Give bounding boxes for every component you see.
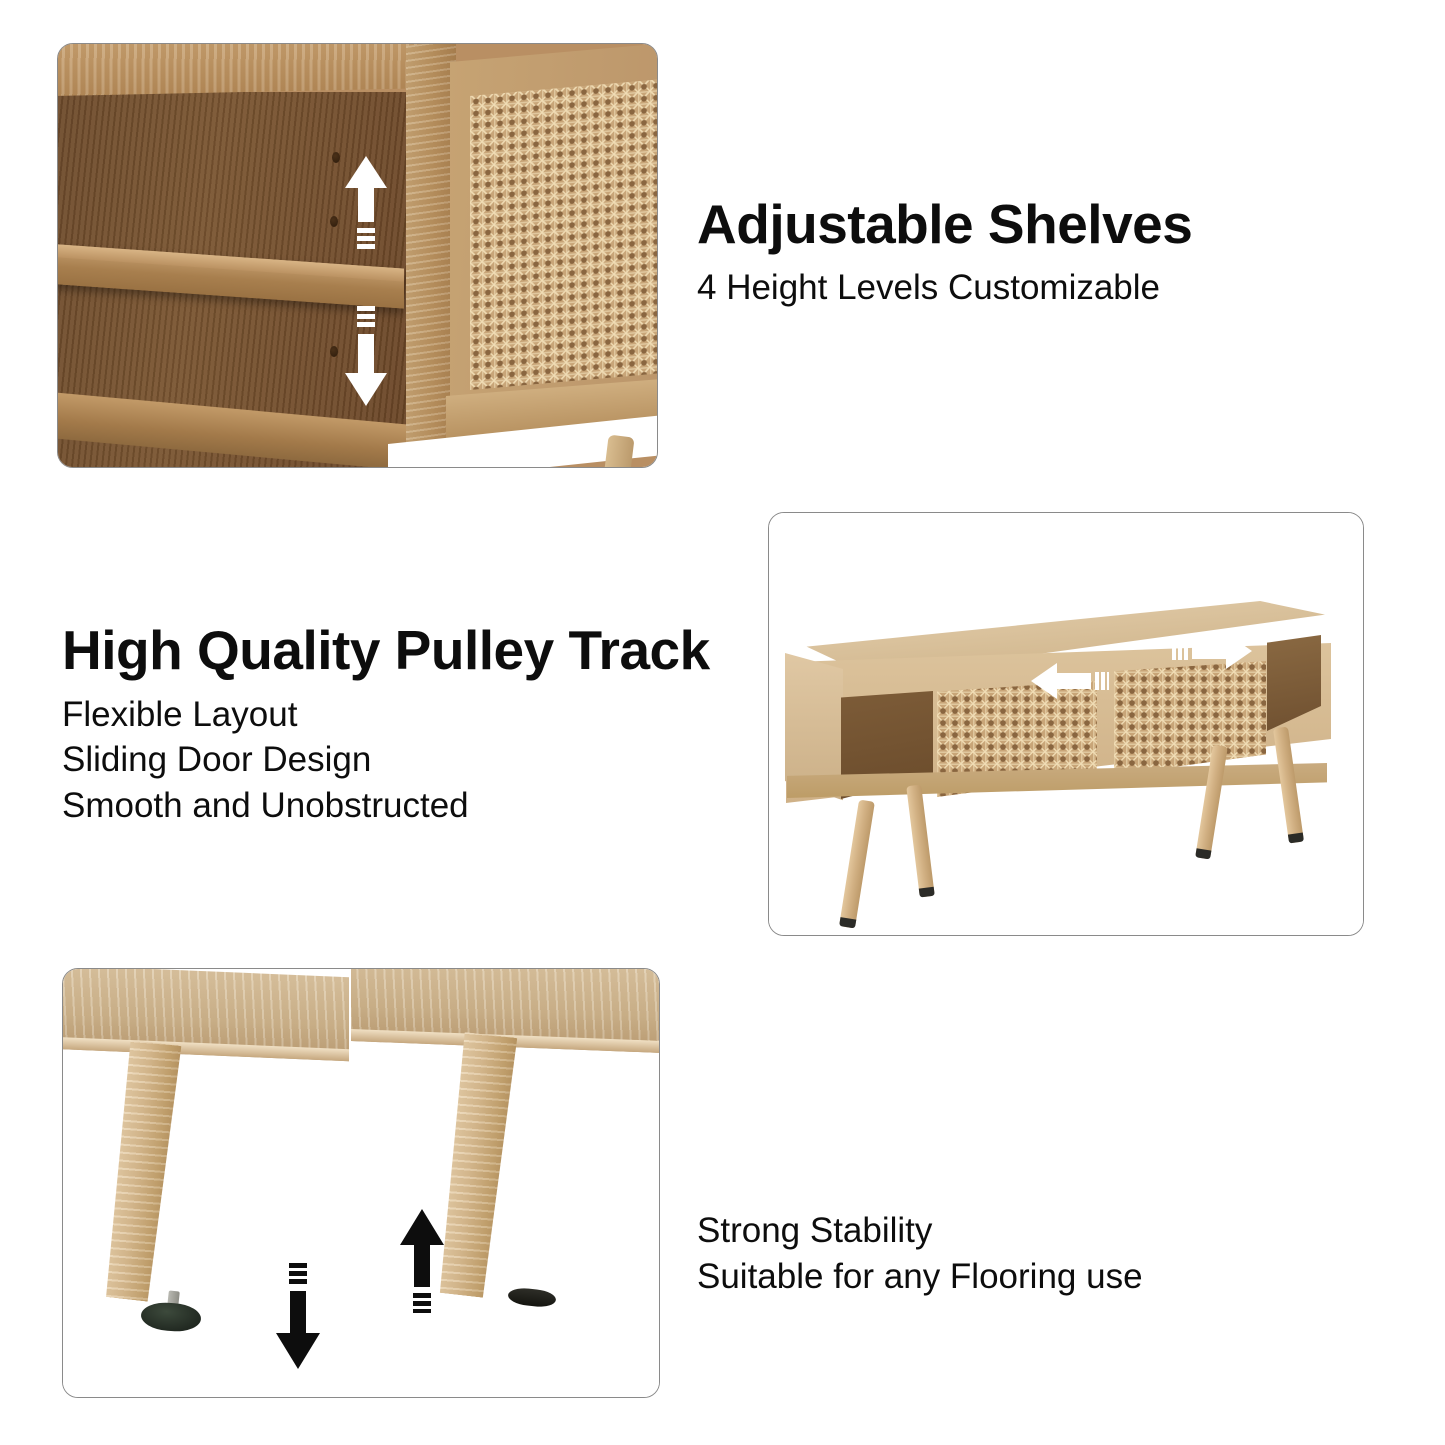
stand-leg-right: [432, 1032, 521, 1299]
arrow-left-icon: [1031, 663, 1109, 699]
feature-heading: Adjustable Shelves: [697, 196, 1192, 254]
feature-heading: High Quality Pulley Track: [62, 622, 710, 680]
rattan-cane-webbing: [470, 79, 658, 390]
panel-tv-stand-overview: [768, 512, 1364, 936]
tv-stand-illustration: [769, 513, 1363, 935]
stand-legs-group: [769, 513, 1363, 935]
arrow-down-icon: [276, 1263, 320, 1369]
feature-subline-list: Flexible Layout Sliding Door Design Smoo…: [62, 692, 710, 829]
stand-underside-board-left: [62, 968, 349, 1061]
feature-subline: Strong Stability: [697, 1208, 1143, 1254]
feature-subline: Suitable for any Flooring use: [697, 1254, 1143, 1300]
feature-subline: 4 Height Levels Customizable: [697, 265, 1192, 311]
stand-leg-front-left: [839, 800, 875, 929]
shelf-peg-hole: [330, 216, 338, 227]
leg-foot-cap: [507, 1287, 557, 1309]
arrow-right-icon: [1172, 633, 1252, 669]
stand-leg-front-right: [1195, 745, 1228, 860]
product-feature-infographic: Adjustable Shelves 4 Height Levels Custo…: [0, 0, 1445, 1445]
stand-leg-back-right: [1273, 727, 1304, 844]
feature-text-adjustable-shelves: Adjustable Shelves 4 Height Levels Custo…: [697, 196, 1192, 310]
shelf-closeup-illustration: [58, 44, 657, 467]
arrow-up-icon: [345, 156, 387, 254]
panel-leg-stability: [62, 968, 660, 1398]
feature-text-pulley-track: High Quality Pulley Track Flexible Layou…: [62, 622, 710, 828]
adjustable-foot-pad: [140, 1301, 202, 1333]
panel-adjustable-shelves: [57, 43, 658, 468]
stand-leg-hint: [603, 435, 634, 468]
feature-subline: Smooth and Unobstructed: [62, 783, 710, 829]
stand-leg-back-left: [906, 785, 935, 898]
shelf-peg-hole: [332, 152, 340, 163]
board-edge-lip: [62, 1037, 349, 1061]
leg-closeup-illustration: [63, 969, 659, 1397]
feature-text-strong-stability: Strong Stability Suitable for any Floori…: [697, 1208, 1143, 1299]
arrow-up-icon: [400, 1209, 444, 1313]
rattan-weave-texture: [470, 79, 658, 390]
shelf-peg-hole: [330, 346, 338, 357]
feature-subline: Flexible Layout: [62, 692, 710, 738]
feature-subline: Sliding Door Design: [62, 737, 710, 783]
cabinet-top-board: [57, 43, 425, 96]
stand-leg-left: [98, 1040, 185, 1303]
arrow-down-icon: [345, 306, 387, 406]
